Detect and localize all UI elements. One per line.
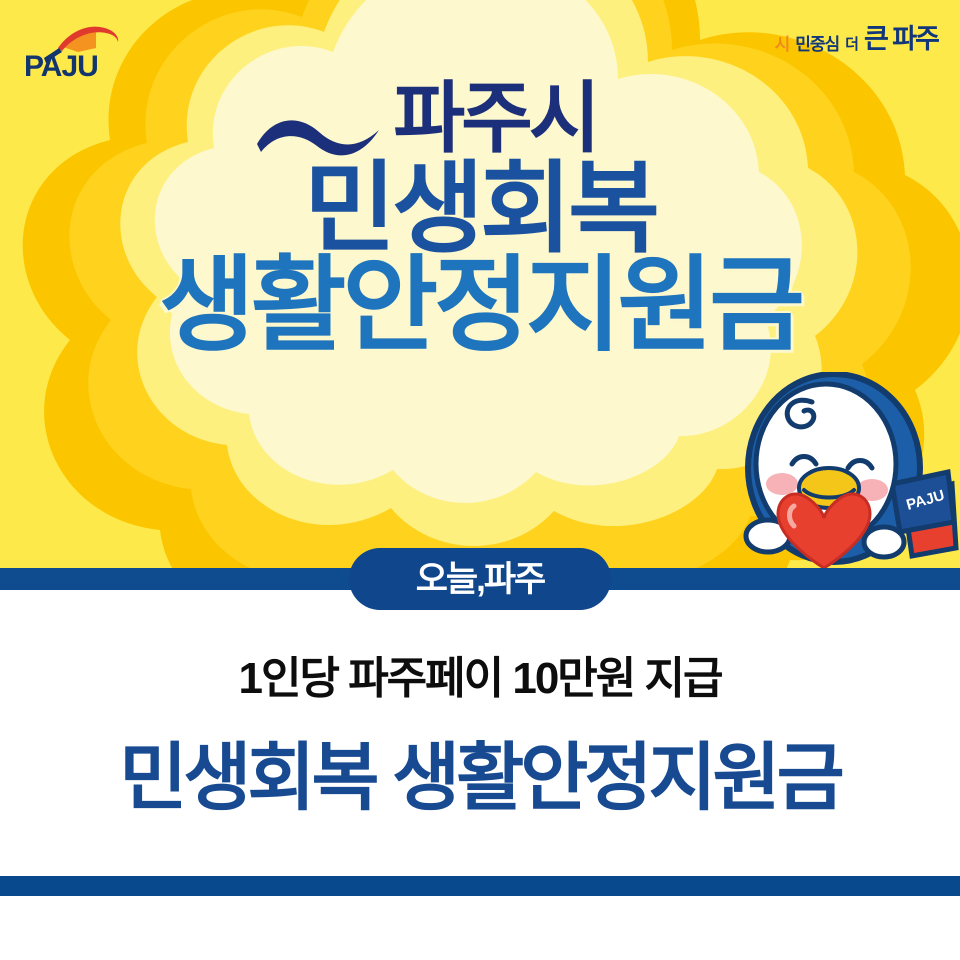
slogan-emphasis: 큰 파주: [864, 26, 938, 53]
slogan-small-rest: 민중심: [795, 36, 839, 53]
today-paju-badge-label: 오늘,파주: [416, 562, 545, 597]
hero-title-line-2: 민생회복: [0, 160, 960, 258]
svg-text:PAJU: PAJU: [24, 50, 98, 80]
bottom-navy-rule: [0, 876, 960, 896]
mascot-cheek-left: [766, 473, 798, 495]
slogan-connector: 더: [845, 37, 858, 53]
hero-title-block: 파주시 민생회복 생활안정지원금: [0, 80, 960, 358]
wave-swoosh-icon: [255, 104, 385, 166]
hero-section: PAJU 시 민중심 더 큰 파주 파주시 민생회복 생활안정지원금: [0, 0, 960, 570]
hero-title-text-1: 파주시: [393, 74, 596, 162]
poster-root: PAJU 시 민중심 더 큰 파주 파주시 민생회복 생활안정지원금: [0, 0, 960, 960]
paju-city-logo: PAJU: [22, 24, 142, 80]
mascot-arm-right: [864, 527, 904, 557]
today-paju-badge[interactable]: 오늘,파주: [349, 548, 611, 610]
hero-title-line-1: 파주시: [0, 80, 960, 156]
footer-subheadline: 1인당 파주페이 10만원 지급: [0, 642, 960, 706]
city-slogan: 시 민중심 더 큰 파주: [775, 26, 938, 53]
footer-headline: 민생회복 생활안정지원금: [0, 718, 960, 825]
hero-title-line-3: 생활안정지원금: [0, 256, 960, 358]
slogan-highlight-char: 시: [775, 36, 790, 53]
paju-bird-mascot: PAJU: [716, 372, 960, 570]
